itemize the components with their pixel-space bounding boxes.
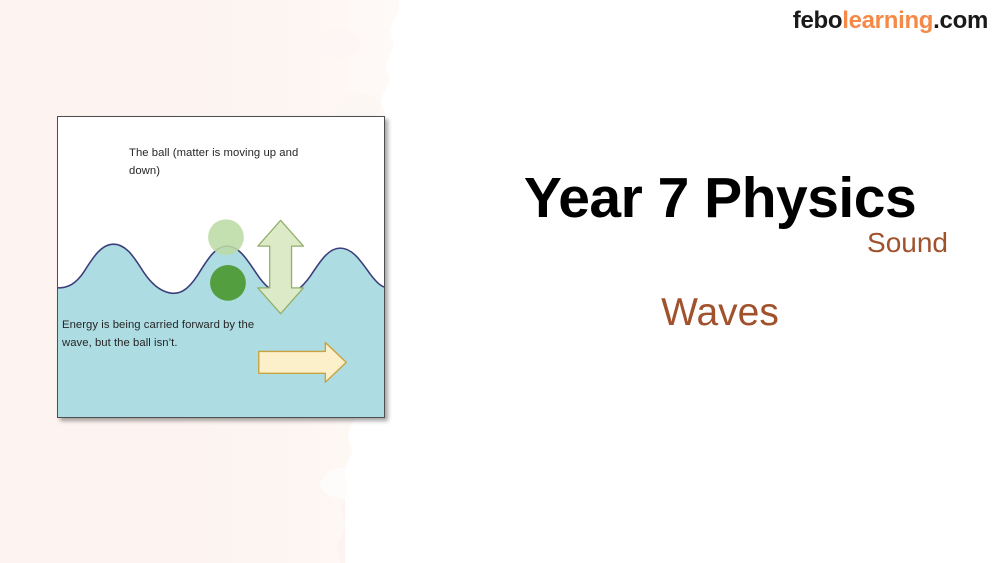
logo-part-febo: febo <box>793 7 842 34</box>
brand-logo: febolearning.com <box>793 7 988 35</box>
page-title: Year 7 Physics <box>470 170 970 227</box>
slide-canvas: The ball (matter is moving up and down) … <box>0 0 1000 563</box>
title-group: Year 7 Physics Sound Waves <box>470 170 970 332</box>
logo-part-learning: learning <box>842 7 933 34</box>
logo-part-domain: .com <box>933 7 988 34</box>
wave-diagram-panel: The ball (matter is moving up and down) … <box>57 116 385 418</box>
ball-upper-position <box>208 219 244 255</box>
ball-lower-position <box>210 265 246 301</box>
topic-heading: Waves <box>470 293 970 332</box>
figure-caption-ball: The ball (matter is moving up and down) <box>129 145 329 180</box>
figure-caption-energy: Energy is being carried forward by the w… <box>62 317 277 352</box>
subject-subtitle: Sound <box>470 229 970 257</box>
